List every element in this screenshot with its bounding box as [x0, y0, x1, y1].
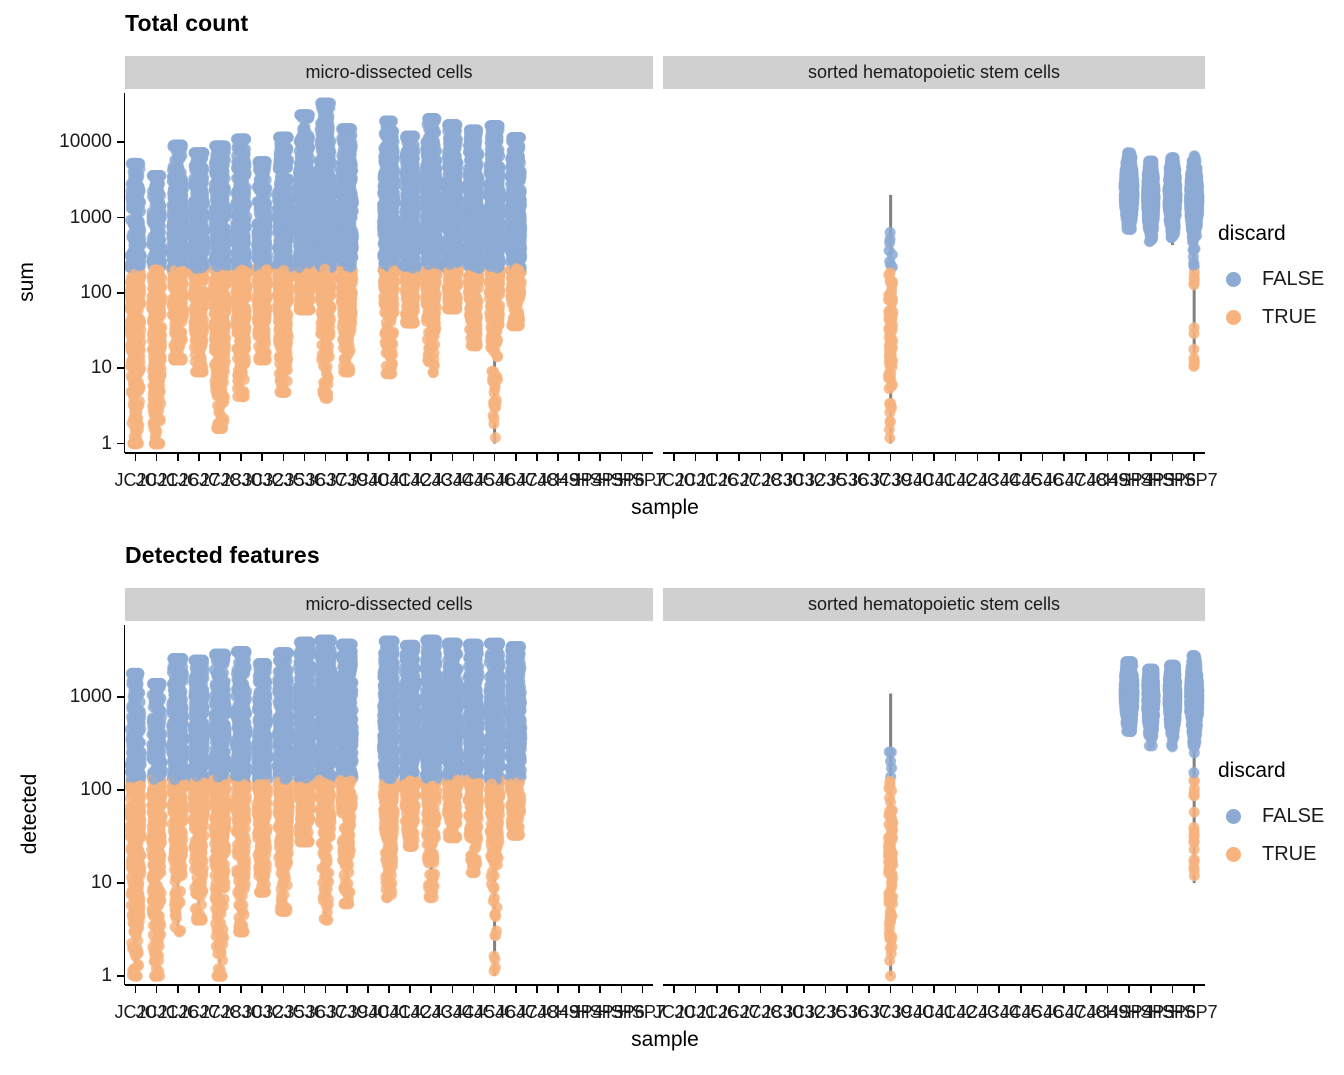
data-point [272, 281, 282, 291]
data-point [301, 272, 311, 282]
data-point [209, 301, 219, 311]
data-point [253, 307, 263, 317]
data-point [147, 276, 157, 286]
data-point [273, 269, 283, 279]
data-point [150, 246, 160, 256]
plot-area-micro-dissected [125, 93, 653, 453]
data-point [274, 316, 284, 326]
data-point [239, 134, 249, 144]
data-point [213, 141, 223, 151]
data-point [238, 350, 248, 360]
data-point [133, 380, 143, 390]
data-point [177, 312, 187, 322]
data-point [154, 170, 164, 180]
data-point [258, 165, 268, 175]
data-point [197, 318, 207, 328]
data-point [176, 167, 186, 177]
data-point [297, 208, 307, 218]
data-point [174, 239, 184, 249]
facet-strip-micro-dissected: micro-dissected cells [125, 56, 653, 89]
data-point [152, 201, 162, 211]
data-point [189, 213, 199, 223]
data-point [149, 300, 159, 310]
data-point [282, 337, 292, 347]
data-point [238, 287, 248, 297]
data-point [239, 147, 249, 157]
data-point [233, 185, 243, 195]
data-point [272, 207, 282, 217]
data-point [195, 182, 205, 192]
data-point [218, 179, 228, 189]
data-point [131, 438, 141, 448]
data-point [211, 370, 221, 380]
data-point [210, 223, 220, 233]
data-point [275, 172, 285, 182]
data-point [293, 223, 303, 233]
data-point [252, 253, 262, 263]
data-point [130, 275, 140, 285]
data-point [260, 316, 270, 326]
data-point [191, 308, 201, 318]
data-point [280, 365, 290, 375]
data-point [151, 316, 161, 326]
data-point [174, 206, 184, 216]
data-point [236, 158, 246, 168]
data-point [172, 340, 182, 350]
data-point [128, 391, 138, 401]
data-point [194, 287, 204, 297]
data-point [302, 133, 312, 143]
data-point [134, 366, 144, 376]
data-point [196, 165, 206, 175]
data-point [154, 438, 164, 448]
data-point [147, 192, 157, 202]
data-point [275, 151, 285, 161]
data-point [129, 350, 139, 360]
facet-strip-sorted-hsc: sorted hematopoietic stem cells [663, 56, 1205, 89]
figure-page: Total count micro-dissected cells sorted… [0, 0, 1344, 1075]
data-point [151, 402, 161, 412]
data-point [133, 255, 143, 265]
data-point [176, 269, 186, 279]
data-point [275, 248, 285, 258]
data-point [212, 285, 222, 295]
data-point [199, 224, 209, 234]
data-point [130, 213, 140, 223]
data-point [170, 325, 180, 335]
data-point [168, 140, 178, 150]
data-point [190, 251, 200, 261]
page-title-total-count: Total count [125, 10, 248, 37]
data-point [281, 293, 291, 303]
data-point [125, 287, 135, 297]
data-point [156, 342, 166, 352]
data-point [283, 282, 293, 292]
data-point [257, 226, 267, 236]
data-point [133, 420, 143, 430]
data-point [218, 394, 228, 404]
data-point [262, 183, 272, 193]
data-point [156, 352, 166, 362]
data-point [262, 305, 272, 315]
data-point [301, 177, 311, 187]
data-point [219, 194, 229, 204]
data-point [231, 210, 241, 220]
data-point [192, 148, 202, 158]
data-point [209, 204, 219, 214]
data-point [149, 386, 159, 396]
data-point [209, 317, 219, 327]
data-point [236, 362, 246, 372]
data-point [177, 150, 187, 160]
data-point [155, 369, 165, 379]
data-point [150, 265, 160, 275]
data-point [257, 216, 267, 226]
data-point [279, 185, 289, 195]
data-point [220, 260, 230, 270]
data-point [276, 386, 286, 396]
data-point [295, 303, 305, 313]
data-point [281, 132, 291, 142]
data-point [261, 281, 271, 291]
data-point [170, 179, 180, 189]
data-point [155, 414, 165, 424]
facet-strip-label: micro-dissected cells [305, 62, 472, 83]
data-point [236, 337, 246, 347]
data-point [304, 285, 314, 295]
data-point [147, 235, 157, 245]
data-point [131, 165, 141, 175]
data-point [212, 347, 222, 357]
data-point [260, 199, 270, 209]
data-point [302, 189, 312, 199]
data-point [233, 234, 243, 244]
facet-strip-label: sorted hematopoietic stem cells [808, 62, 1060, 83]
data-point [125, 305, 135, 315]
data-point [197, 262, 207, 272]
plot-total-count: Total count micro-dissected cells sorted… [0, 0, 1344, 537]
data-point [237, 318, 247, 328]
data-point [260, 354, 270, 364]
data-point [133, 192, 143, 202]
data-point [280, 354, 290, 364]
data-point [196, 358, 206, 368]
data-point [234, 301, 244, 311]
data-point [258, 332, 268, 342]
data-point [282, 195, 292, 205]
data-point [126, 339, 136, 349]
data-point [173, 256, 183, 266]
data-point [300, 110, 310, 120]
data-point [256, 344, 266, 354]
data-point [252, 275, 262, 285]
data-point [214, 155, 224, 165]
data-point [193, 328, 203, 338]
data-point [172, 223, 182, 233]
data-point [236, 222, 246, 232]
data-point [294, 262, 304, 272]
data-point [295, 251, 305, 261]
sina-plot-layer [125, 93, 653, 453]
data-point [214, 407, 224, 417]
data-point [234, 267, 244, 277]
data-point [136, 225, 146, 235]
data-point [275, 376, 285, 386]
data-point [195, 241, 205, 251]
data-point [198, 197, 208, 207]
data-point [212, 423, 222, 433]
data-point [239, 391, 249, 401]
data-point [221, 278, 231, 288]
data-point [169, 196, 179, 206]
data-point [212, 233, 222, 243]
data-point [176, 354, 186, 364]
data-point [299, 146, 309, 156]
data-point [238, 252, 248, 262]
data-point [156, 330, 166, 340]
data-point [304, 295, 314, 305]
